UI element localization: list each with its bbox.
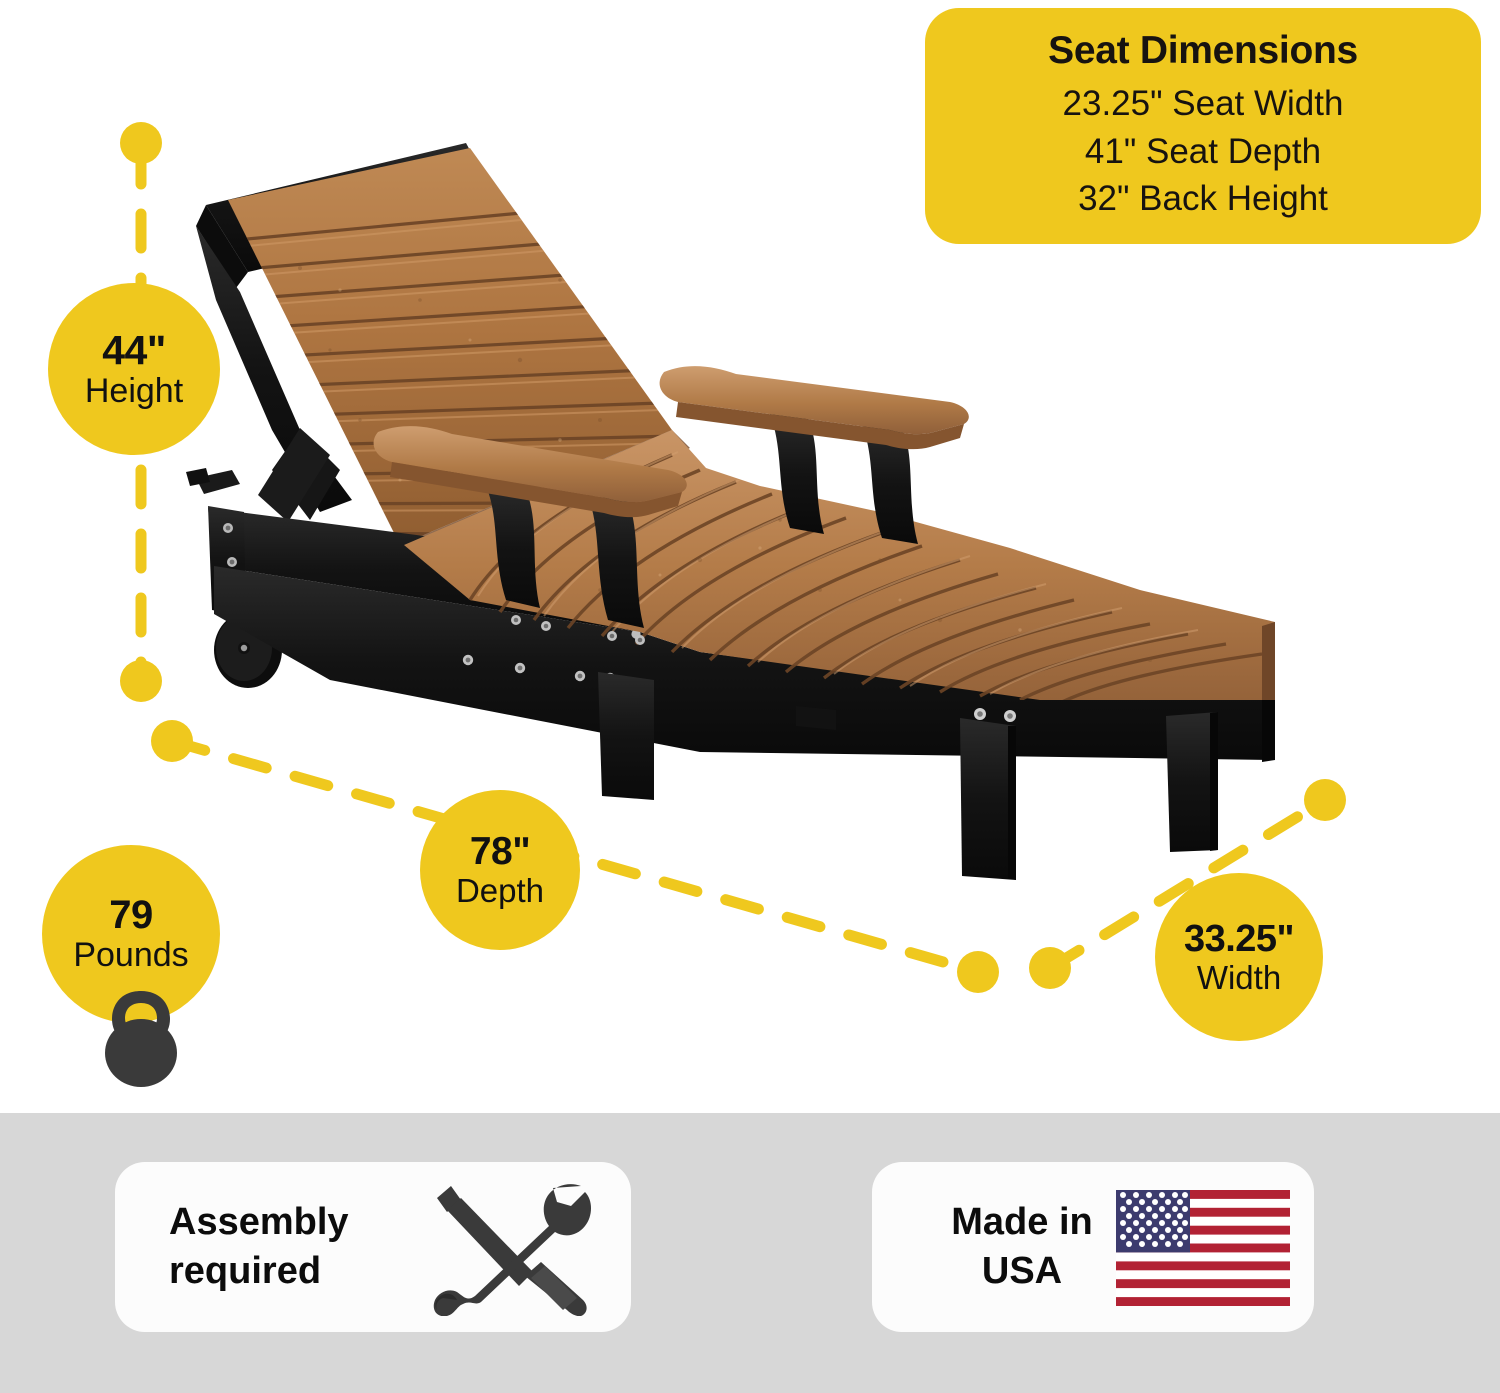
infographic-canvas: 44" Height 78" Depth 33.25" Width 79 Pou… [0,0,1500,1393]
height-value: 44" [102,330,166,372]
kettlebell-icon [88,986,194,1090]
seat-width-line: 23.25" Seat Width [1063,80,1344,128]
us-flag-icon [1116,1190,1290,1306]
assembly-required-card: Assembly required [115,1162,631,1332]
height-label: Height [85,374,183,409]
seat-back-height-line: 32" Back Height [1078,175,1328,223]
callout-depth: 78" Depth [420,790,580,950]
depth-label: Depth [456,874,544,908]
armrest-far [660,366,969,449]
callout-height: 44" Height [48,283,220,455]
made-in-usa-text: Made in USA [922,1198,1122,1295]
callout-width: 33.25" Width [1155,873,1323,1041]
weight-value: 79 [109,895,153,936]
made-in-usa-card: Made in USA [872,1162,1314,1332]
assembly-required-text: Assembly required [169,1198,409,1295]
depth-value: 78" [470,832,530,872]
assembly-line-2: required [169,1247,409,1296]
weight-label: Pounds [73,938,188,973]
assembly-line-1: Assembly [169,1198,409,1247]
seat-depth-line: 41" Seat Depth [1085,128,1321,176]
tools-icon [421,1180,601,1316]
seat-dimensions-title: Seat Dimensions [1048,29,1358,73]
made-in-line-1: Made in [922,1198,1122,1247]
made-in-line-2: USA [922,1247,1122,1296]
width-value: 33.25" [1184,920,1294,959]
width-label: Width [1197,961,1281,995]
seat-dimensions-card: Seat Dimensions 23.25" Seat Width 41" Se… [925,8,1481,244]
